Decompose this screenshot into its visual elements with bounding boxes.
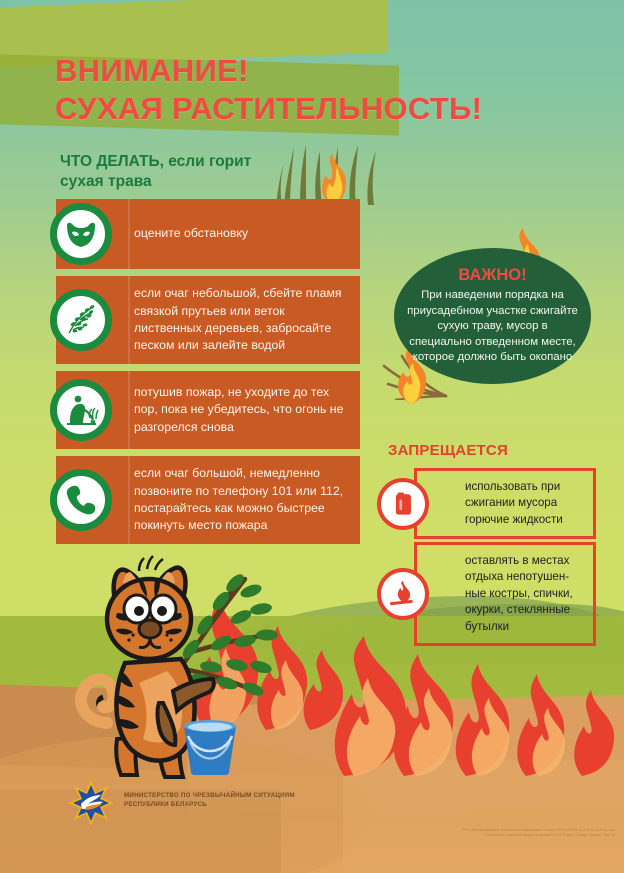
- headline-line-1: ВНИМАНИЕ!: [55, 55, 482, 88]
- ground-patch-4: [343, 760, 624, 873]
- list-item: если очаг небольшой, сбейте пламя связко…: [56, 276, 360, 364]
- step-divider: [128, 456, 130, 544]
- list-item: оцените обстановку: [56, 199, 360, 269]
- step-divider: [128, 371, 130, 449]
- tree-branch-icon: [50, 289, 112, 351]
- jerrycan-icon: [377, 478, 429, 530]
- important-title: ВАЖНО!: [458, 266, 526, 285]
- match-icon: [377, 568, 429, 620]
- important-body: При наведении порядка на приусадебном уч…: [406, 288, 579, 366]
- step-text: оцените обстановку: [134, 225, 248, 242]
- mask-icon: [50, 203, 112, 265]
- forbidden-text: использовать при сжигании мусора горючие…: [465, 479, 585, 528]
- cat-illustration: [55, 543, 295, 788]
- important-callout: ВАЖНО! При наведении порядка на приусаде…: [394, 248, 591, 384]
- forbidden-item: использовать при сжигании мусора горючие…: [414, 468, 596, 539]
- beating-fire-icon: [50, 379, 112, 441]
- ministry-line-1: МИНИСТЕРСТВО ПО ЧРЕЗВЫЧАЙНЫМ СИТУАЦИЯМ: [124, 791, 295, 800]
- list-item: если очаг большой, немедленно позвоните …: [56, 456, 360, 544]
- step-text: если очаг большой, немедленно позвоните …: [134, 465, 350, 535]
- burning-grass-icon: [276, 143, 386, 205]
- instruction-list: оцените обстановку: [56, 199, 360, 551]
- ministry-name: МИНИСТЕРСТВО ПО ЧРЕЗВЫЧАЙНЫМ СИТУАЦИЯМ Р…: [124, 791, 295, 810]
- page-title: ВНИМАНИЕ! СУХАЯ РАСТИТЕЛЬНОСТЬ!: [55, 55, 482, 125]
- headline-line-2: СУХАЯ РАСТИТЕЛЬНОСТЬ!: [55, 93, 482, 126]
- imprint-fineprint: РУП «Белтаможсервис» филиал «Белтаможизд…: [255, 828, 615, 839]
- forbidden-text: оставлять в местах отдыха непотушен-ные …: [465, 553, 585, 635]
- fire-illustration: [330, 636, 624, 776]
- poster-canvas: ВНИМАНИЕ! СУХАЯ РАСТИТЕЛЬНОСТЬ! ЧТО ДЕЛА…: [0, 0, 624, 873]
- fineprint-line-2: Отпечатано с оригинал-макета заказчика в…: [255, 833, 615, 838]
- forbidden-title: ЗАПРЕЩАЕТСЯ: [388, 442, 508, 459]
- phone-icon: [50, 469, 112, 531]
- ministry-line-2: РЕСПУБЛИКИ БЕЛАРУСЬ: [124, 800, 295, 809]
- step-text: если очаг небольшой, сбейте пламя связко…: [134, 285, 350, 355]
- step-text: потушив пожар, не уходите до тех пор, по…: [134, 384, 350, 436]
- list-item: потушив пожар, не уходите до тех пор, по…: [56, 371, 360, 449]
- forbidden-item: оставлять в местах отдыха непотушен-ные …: [414, 542, 596, 646]
- ministry-logo: [68, 780, 114, 826]
- step-divider: [128, 276, 130, 364]
- water-bucket: [178, 716, 242, 776]
- step-divider: [128, 199, 130, 269]
- section-subheading: ЧТО ДЕЛАТЬ, если горит сухая трава: [60, 152, 290, 193]
